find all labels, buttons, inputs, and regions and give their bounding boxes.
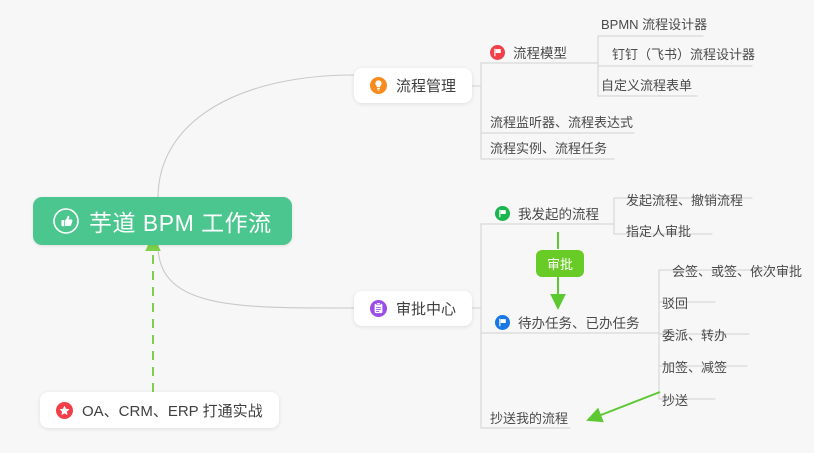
flag-icon bbox=[495, 206, 510, 221]
node-label-process-model: 流程模型 bbox=[513, 42, 567, 62]
leaf-start-cancel-process[interactable]: 发起流程、撤销流程 bbox=[626, 188, 743, 210]
leaf-bpmn-designer[interactable]: BPMN 流程设计器 bbox=[601, 12, 707, 34]
node-my-started-processes[interactable]: 我发起的流程 bbox=[495, 201, 599, 225]
branch-node-approval-center[interactable]: 审批中心 bbox=[354, 291, 472, 326]
annotation-card-integration-label: OA、CRM、ERP 打通实战 bbox=[82, 400, 263, 421]
leaf-cc-to-me-processes[interactable]: 抄送我的流程 bbox=[490, 406, 568, 428]
thumbs-up-icon bbox=[53, 208, 79, 234]
leaf-instance-task[interactable]: 流程实例、流程任务 bbox=[490, 136, 607, 158]
node-process-model[interactable]: 流程模型 bbox=[490, 40, 567, 64]
root-node[interactable]: 芋道 BPM 工作流 bbox=[33, 197, 292, 245]
flag-icon bbox=[495, 315, 510, 330]
wire-root-to-process-mgmt bbox=[158, 75, 354, 198]
root-node-label: 芋道 BPM 工作流 bbox=[89, 204, 272, 238]
leaf-delegate-transfer[interactable]: 委派、转办 bbox=[662, 323, 727, 345]
star-icon bbox=[56, 402, 73, 419]
clipboard-icon bbox=[370, 300, 387, 317]
leaf-reject[interactable]: 驳回 bbox=[662, 291, 688, 313]
leaf-custom-process-form[interactable]: 自定义流程表单 bbox=[601, 73, 692, 95]
mindmap-canvas[interactable]: 芋道 BPM 工作流 流程管理 流程模型 BPMN 流程设计器 钉钉（飞书）流程… bbox=[0, 0, 814, 453]
leaf-assignee-approval[interactable]: 指定人审批 bbox=[626, 219, 691, 241]
annotation-card-integration[interactable]: OA、CRM、ERP 打通实战 bbox=[40, 392, 279, 428]
leaf-dingtalk-feishu-designer[interactable]: 钉钉（飞书）流程设计器 bbox=[612, 42, 755, 64]
wire-root-to-approval-center bbox=[158, 245, 354, 308]
branch-label-process-management: 流程管理 bbox=[396, 75, 456, 96]
flag-icon bbox=[490, 45, 505, 60]
flow-arrow-cc-to-my-cc bbox=[588, 392, 660, 420]
node-label-todo-done-tasks: 待办任务、已办任务 bbox=[518, 312, 640, 332]
branch-node-process-management[interactable]: 流程管理 bbox=[354, 68, 472, 103]
annotation-tag-approval-label: 审批 bbox=[547, 254, 573, 273]
annotation-tag-approval[interactable]: 审批 bbox=[536, 250, 584, 277]
node-todo-done-tasks[interactable]: 待办任务、已办任务 bbox=[495, 310, 640, 334]
leaf-add-remove-sign[interactable]: 加签、减签 bbox=[662, 355, 727, 377]
node-label-my-started-processes: 我发起的流程 bbox=[518, 203, 599, 223]
lightbulb-icon bbox=[370, 77, 387, 94]
branch-label-approval-center: 审批中心 bbox=[396, 298, 456, 319]
leaf-countersign-orsign-sequential[interactable]: 会签、或签、依次审批 bbox=[672, 259, 802, 281]
leaf-listener-expression[interactable]: 流程监听器、流程表达式 bbox=[490, 110, 633, 132]
leaf-carbon-copy[interactable]: 抄送 bbox=[662, 388, 688, 410]
